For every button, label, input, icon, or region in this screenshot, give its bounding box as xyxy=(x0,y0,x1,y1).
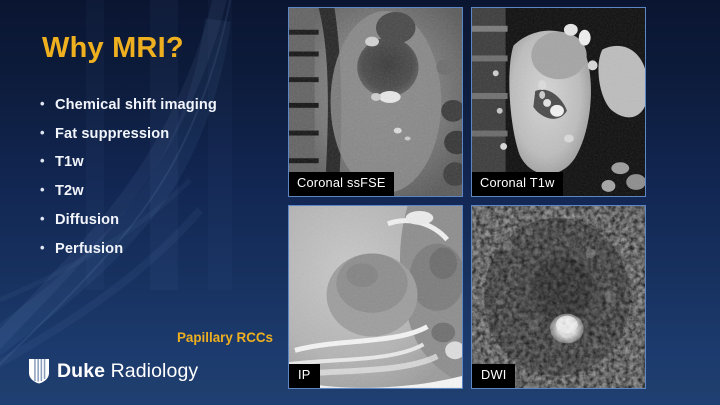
bullet-marker-icon: • xyxy=(40,96,55,112)
mri-image-grid: Coronal ssFSE xyxy=(288,7,654,397)
panel-in-phase[interactable]: IP xyxy=(288,205,463,389)
duke-radiology-logo: Duke Radiology xyxy=(28,358,198,384)
list-item-label: T2w xyxy=(55,182,84,200)
mri-image-coronal-t1w xyxy=(472,8,645,196)
annotation-papillary-rccs: Papillary RCCs xyxy=(177,330,273,345)
panel-label: Coronal ssFSE xyxy=(289,172,394,196)
list-item-label: Diffusion xyxy=(55,211,119,229)
bullet-marker-icon: • xyxy=(40,182,55,198)
duke-shield-icon xyxy=(28,358,50,384)
list-item-label: Perfusion xyxy=(55,240,123,258)
list-item: • Perfusion xyxy=(40,240,290,258)
bullet-marker-icon: • xyxy=(40,211,55,227)
logo-wordmark-duke: Duke xyxy=(57,360,105,382)
panel-label: DWI xyxy=(472,364,515,388)
mri-image-coronal-ssfse xyxy=(289,8,462,196)
list-item: • T1w xyxy=(40,153,290,171)
mri-image-axial-dwi xyxy=(472,206,645,388)
panel-coronal-ssfse[interactable]: Coronal ssFSE xyxy=(288,7,463,197)
panel-label: IP xyxy=(289,364,320,388)
list-item: • Fat suppression xyxy=(40,125,290,143)
panel-dwi[interactable]: DWI xyxy=(471,205,646,389)
list-item: • Chemical shift imaging xyxy=(40,96,290,114)
mri-image-axial-in-phase xyxy=(289,206,462,388)
bullet-marker-icon: • xyxy=(40,240,55,256)
list-item-label: T1w xyxy=(55,153,84,171)
bullet-list: • Chemical shift imaging • Fat suppressi… xyxy=(40,96,290,268)
list-item-label: Chemical shift imaging xyxy=(55,96,217,114)
panel-label: Coronal T1w xyxy=(472,172,563,196)
list-item-label: Fat suppression xyxy=(55,125,169,143)
logo-wordmark: Duke Radiology xyxy=(57,360,198,383)
page-title: Why MRI? xyxy=(42,32,184,65)
logo-wordmark-radiology: Radiology xyxy=(105,360,198,382)
bullet-marker-icon: • xyxy=(40,125,55,141)
list-item: • T2w xyxy=(40,182,290,200)
slide: Why MRI? • Chemical shift imaging • Fat … xyxy=(0,0,720,405)
panel-coronal-t1w[interactable]: Coronal T1w xyxy=(471,7,646,197)
list-item: • Diffusion xyxy=(40,211,290,229)
bullet-marker-icon: • xyxy=(40,153,55,169)
